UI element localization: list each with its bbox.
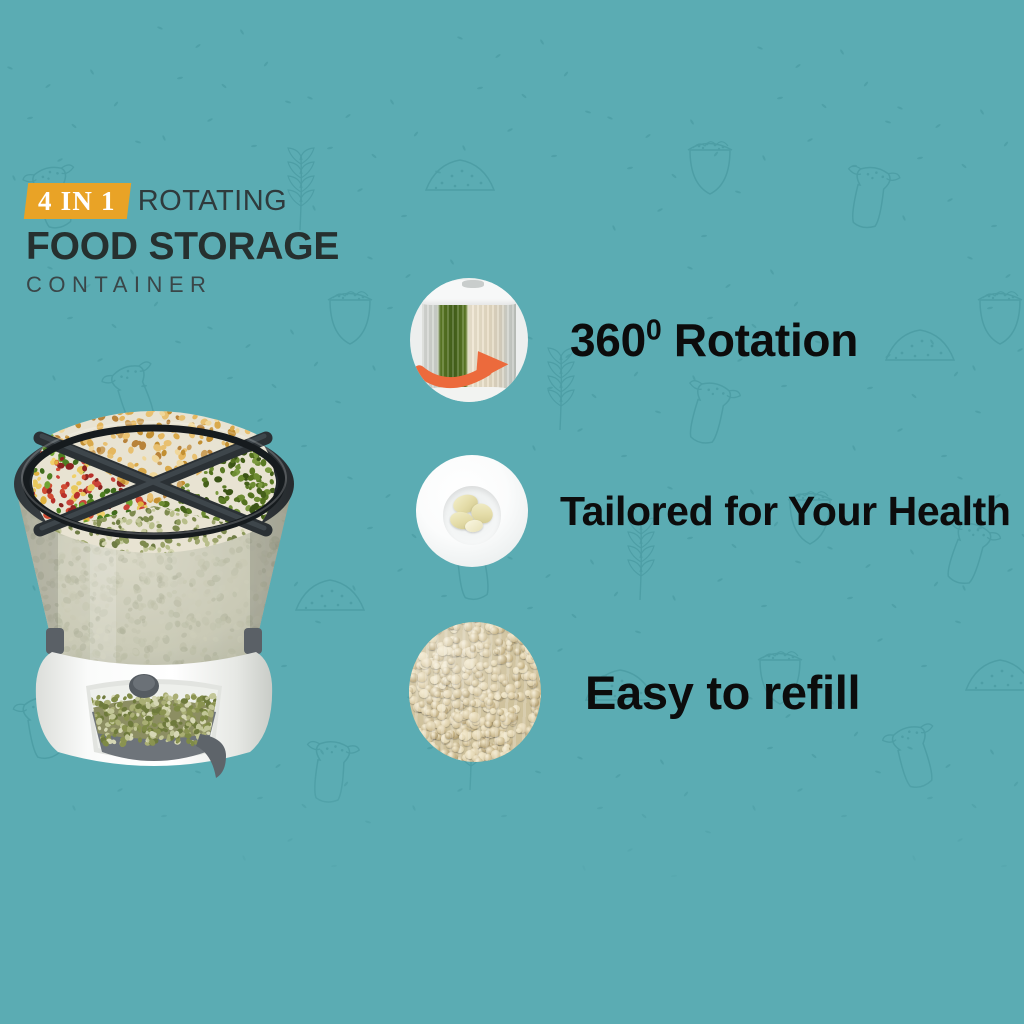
rotating-container-thumbnail (410, 278, 528, 402)
headline-block: 4 IN 1 ROTATING FOOD STORAGE CONTAINER (26, 183, 446, 298)
headline-line-3: CONTAINER (26, 272, 446, 298)
feature-label-rotation-rest: Rotation (661, 314, 858, 366)
feature-row-rotation: 3600 Rotation (410, 278, 858, 402)
nut-tray-thumbnail (416, 455, 528, 567)
feature-label-rotation: 3600 Rotation (570, 317, 858, 363)
chickpea-fill-thumbnail (409, 622, 541, 762)
degree-symbol: 0 (646, 315, 662, 347)
feature-label-refill: Easy to refill (585, 669, 860, 716)
product-feature-poster: 4 IN 1 ROTATING FOOD STORAGE CONTAINER (0, 0, 1024, 1024)
four-in-one-badge: 4 IN 1 (24, 183, 131, 219)
headline-line-2: FOOD STORAGE (26, 225, 446, 269)
feature-label-rotation-num: 360 (570, 314, 646, 366)
background-pattern-fade (0, 760, 1024, 1024)
feature-label-health: Tailored for Your Health (560, 491, 1011, 532)
feature-row-health: Tailored for Your Health (416, 455, 1011, 567)
container-highlight (409, 622, 541, 762)
thumb-container-knob (462, 280, 484, 287)
product-image (0, 360, 314, 780)
badge-label: 4 IN 1 (38, 186, 116, 216)
headline-line-1: 4 IN 1 ROTATING (26, 183, 446, 219)
headline-rotating: ROTATING (138, 185, 288, 217)
rotation-arrow-icon (415, 338, 524, 393)
feature-row-refill: Easy to refill (409, 622, 860, 762)
